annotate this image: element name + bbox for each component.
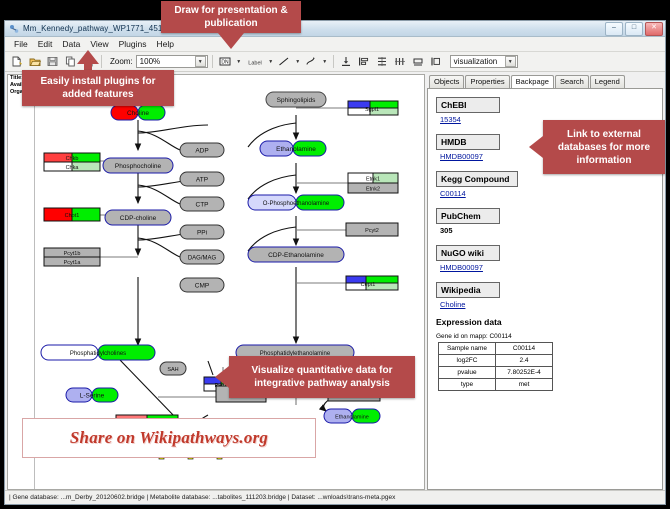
menu-edit[interactable]: Edit	[33, 38, 58, 50]
node-ppi: PPi	[197, 230, 207, 237]
chevron-down-icon-2[interactable]: ▼	[505, 56, 516, 67]
db-header-kegg: Kegg Compound	[436, 171, 518, 187]
callout-visualize: Visualize quantitative data for integrat…	[229, 356, 415, 398]
gene-id-line: Gene id on mapp: C00114	[436, 333, 656, 340]
callout-share: Share on Wikipathways.org	[22, 418, 316, 458]
svg-text:Label: Label	[248, 60, 261, 66]
callout-visualize-arrow	[215, 366, 229, 388]
zoom-value: 100%	[140, 57, 160, 66]
menu-file[interactable]: File	[9, 38, 33, 50]
open-file-icon[interactable]	[26, 53, 43, 70]
node-choline-top: Choline	[127, 110, 149, 117]
window-buttons: – □ ✕	[605, 22, 663, 36]
callout-links: Link to external databases for more info…	[543, 120, 665, 174]
zoom-combo[interactable]: 100% ▼	[136, 55, 208, 68]
node-sah: SAH	[167, 367, 178, 373]
row-val-log2fc: 2.4	[496, 355, 553, 367]
gene-etnk2: Etnk2	[366, 187, 380, 193]
visualization-value: visualization	[454, 57, 498, 66]
svg-text:DN: DN	[222, 60, 230, 66]
row-val-pvalue: 7.80252E-4	[496, 367, 553, 379]
status-text: | Gene database: ...m_Derby_20120602.bri…	[9, 494, 395, 501]
node-cmp: CMP	[195, 283, 209, 290]
db-header-hmdb: HMDB	[436, 134, 500, 150]
node-phosphatidylcholines: Phosphatidylcholines	[70, 351, 126, 357]
db-link-wikipedia[interactable]: Choline	[440, 300, 656, 309]
datanode-icon[interactable]: DN	[217, 53, 234, 70]
side-panel-tabs: Objects Properties Backpage Search Legen…	[427, 74, 663, 88]
callout-plugins-arrow	[77, 50, 99, 64]
align-bottom-icon[interactable]	[338, 53, 355, 70]
expression-data-table: Sample name C00114 log2FC 2.4 pvalue 7.8…	[438, 342, 553, 391]
tab-search[interactable]: Search	[555, 75, 589, 88]
size-common-icon[interactable]	[410, 53, 427, 70]
db-header-wikipedia: Wikipedia	[436, 282, 500, 298]
callout-plugins: Easily install plugins for added feature…	[22, 70, 174, 106]
node-dagmag: DAG/MAG	[188, 256, 217, 262]
pathvisio-icon	[9, 24, 19, 34]
menu-help[interactable]: Help	[152, 38, 179, 50]
datanode-dropdown-icon[interactable]: ▼	[235, 54, 243, 69]
row-val-sample-name: C00114	[496, 343, 553, 355]
save-file-icon[interactable]	[44, 53, 61, 70]
zoom-label: Zoom:	[110, 57, 133, 66]
gene-cept1: Cept1	[361, 282, 376, 288]
tool-bar: Zoom: 100% ▼ DN ▼ Label ▼ ▼ ▼	[5, 52, 665, 72]
node-atp: ATP	[196, 177, 208, 184]
node-sphingolipids: Sphingolipids	[277, 97, 316, 104]
menu-bar: File Edit Data View Plugins Help	[5, 37, 665, 52]
tab-objects[interactable]: Objects	[429, 75, 464, 88]
distribute-horizontal-icon[interactable]	[392, 53, 409, 70]
gene-pcyt1b: Pcyt1b	[64, 251, 81, 257]
minimize-button[interactable]: –	[605, 22, 623, 36]
gene-chpt1: Chpt1	[65, 213, 80, 219]
row-key-sample-name: Sample name	[439, 343, 496, 355]
db-header-pubchem: PubChem	[436, 208, 500, 224]
db-link-nugo[interactable]: HMDB00097	[440, 263, 656, 272]
node-ethanolamine-bottom: Ethanolamine	[335, 415, 369, 421]
toolbar-separator-2	[212, 55, 213, 68]
node-ctp: CTP	[196, 202, 209, 209]
menu-plugins[interactable]: Plugins	[114, 38, 152, 50]
distribute-vertical-icon[interactable]	[374, 53, 391, 70]
title-bar: Mm_Kennedy_pathway_WP1771_45176.gpml – □…	[5, 21, 665, 37]
gene-pcyt1a: Pcyt1a	[64, 260, 82, 266]
table-row: type met	[439, 379, 553, 391]
status-bar: | Gene database: ...m_Derby_20120602.bri…	[5, 490, 665, 504]
table-row: log2FC 2.4	[439, 355, 553, 367]
db-header-nugo: NuGO wiki	[436, 245, 500, 261]
line-dropdown-icon[interactable]: ▼	[294, 54, 302, 69]
toolbar-separator-1	[101, 55, 102, 68]
new-file-icon[interactable]	[8, 53, 25, 70]
interaction-icon[interactable]	[303, 53, 320, 70]
menu-data[interactable]: Data	[57, 38, 85, 50]
tab-backpage[interactable]: Backpage	[511, 75, 554, 89]
row-val-type: met	[496, 379, 553, 391]
menu-view[interactable]: View	[85, 38, 113, 50]
node-o-phosphoethanolamine: O-Phosphoethanolamine	[263, 201, 330, 207]
table-row: pvalue 7.80252E-4	[439, 367, 553, 379]
label-icon[interactable]: Label	[244, 53, 266, 70]
gene-chka: Chka	[66, 165, 80, 171]
node-cdp-choline: CDP-choline	[120, 215, 157, 222]
callout-links-arrow	[529, 136, 543, 158]
node-phosphocholine: Phosphocholine	[115, 163, 162, 170]
node-cdp-ethanolamine: CDP-Ethanolamine	[268, 252, 324, 259]
maximize-button[interactable]: □	[625, 22, 643, 36]
callout-draw-arrow	[218, 33, 244, 49]
db-link-kegg[interactable]: C00114	[440, 189, 656, 198]
close-button[interactable]: ✕	[645, 22, 663, 36]
expression-data-title: Expression data	[436, 317, 656, 327]
chevron-down-icon[interactable]: ▼	[195, 56, 206, 67]
node-adp: ADP	[195, 148, 208, 155]
label-dropdown-icon[interactable]: ▼	[267, 54, 275, 69]
interaction-dropdown-icon[interactable]: ▼	[321, 54, 329, 69]
tab-properties[interactable]: Properties	[465, 75, 509, 88]
table-row: Sample name C00114	[439, 343, 553, 355]
gene-etnk1: Etnk1	[366, 177, 380, 183]
db-header-chebi: ChEBI	[436, 97, 500, 113]
gene-chkb: Chkb	[66, 156, 79, 162]
row-key-type: type	[439, 379, 496, 391]
row-key-pvalue: pvalue	[439, 367, 496, 379]
line-icon[interactable]	[276, 53, 293, 70]
share-text: Share on Wikipathways.org	[70, 428, 268, 448]
node-ethanolamine-top: Ethanolamine	[276, 146, 316, 153]
callout-draw: Draw for presentation & publication	[161, 1, 301, 33]
gene-pcyt2: Pcyt2	[365, 228, 379, 234]
tab-legend[interactable]: Legend	[590, 75, 625, 88]
align-left-icon[interactable]	[356, 53, 373, 70]
row-key-log2fc: log2FC	[439, 355, 496, 367]
db-value-pubchem: 305	[440, 226, 656, 235]
gene-sgpl1: Sgpl1	[365, 107, 379, 113]
visualization-combo[interactable]: visualization ▼	[450, 55, 518, 68]
toolbar-separator-3	[333, 55, 334, 68]
group-icon[interactable]	[428, 53, 445, 70]
node-l-serine-left: L-Serine	[80, 393, 105, 400]
